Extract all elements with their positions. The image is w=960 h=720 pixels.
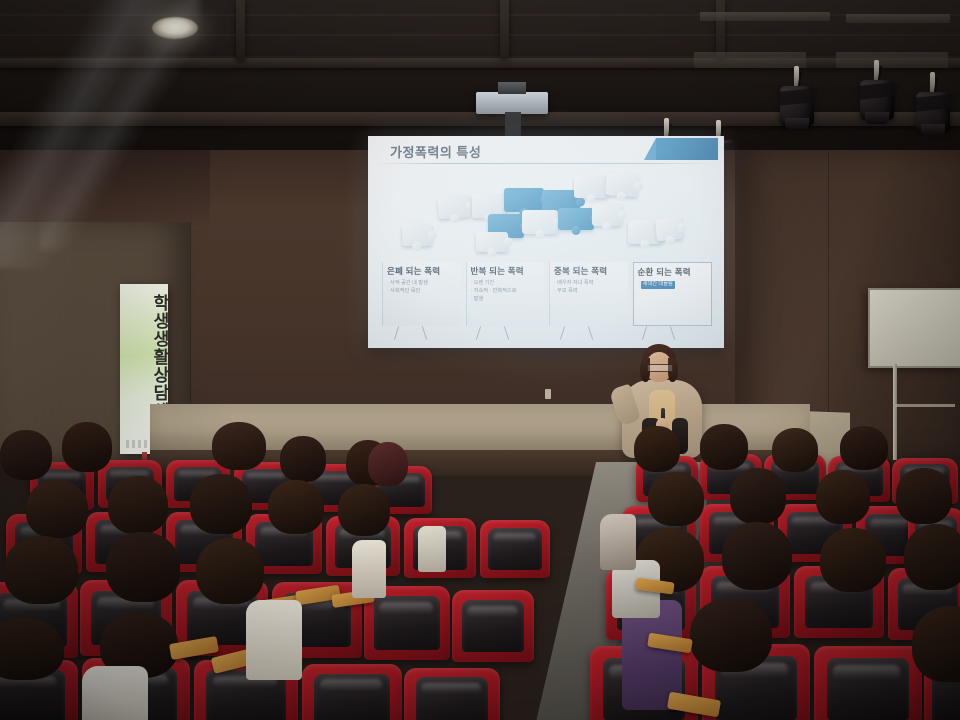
- glasses-icon: [647, 364, 673, 372]
- audience-member: [648, 472, 706, 528]
- audience-member: [280, 436, 330, 486]
- audience-clothing: [246, 600, 302, 680]
- characteristic-box-1[interactable]: 은폐 되는 폭력 사적 공간 내 발생 사회적인 묵인: [382, 262, 461, 326]
- projection-screen: 가정폭력의 특성 은: [368, 136, 724, 348]
- bullet-item: 부모 폭력: [554, 288, 625, 296]
- slide-corner-accent: [656, 138, 718, 160]
- ceiling: [0, 0, 960, 150]
- audience-member: [368, 442, 412, 488]
- characteristic-bullets: 배우자 자녀 폭력 부모 폭력: [554, 280, 625, 296]
- audience-member: [690, 598, 774, 674]
- seat[interactable]: [452, 590, 534, 662]
- audience-member: [0, 618, 66, 684]
- jigsaw-puzzle-graphic: [392, 168, 692, 264]
- audience-member: [840, 426, 890, 472]
- audience-member: [26, 480, 90, 542]
- audience-member: [106, 532, 182, 606]
- characteristic-heading: 은폐 되는 폭력: [387, 265, 458, 277]
- audience-member: [268, 480, 326, 538]
- characteristic-box-4[interactable]: 순환 되는 폭력 세대간 대물림: [633, 262, 713, 326]
- characteristic-heading: 반복 되는 폭력: [471, 265, 542, 277]
- audience-seating: [0, 440, 960, 720]
- wall-outlet: [545, 389, 551, 399]
- audience-member: [4, 536, 80, 608]
- ceiling-downlight: [152, 17, 198, 39]
- audience-member: [820, 528, 888, 594]
- highlighted-bullet-text: 세대간 대물림: [641, 281, 675, 289]
- whiteboard-tray: [893, 404, 955, 407]
- presentation-slide: 가정폭력의 특성 은: [368, 136, 724, 348]
- audience-clothing: [418, 526, 446, 572]
- seat[interactable]: [302, 664, 402, 720]
- audience-member: [634, 426, 682, 474]
- bullet-item: 배우자 자녀 폭력: [554, 280, 625, 288]
- seat[interactable]: [480, 520, 550, 578]
- characteristic-box-3[interactable]: 중복 되는 폭력 배우자 자녀 폭력 부모 폭력: [549, 262, 628, 326]
- bullet-item-highlighted: 세대간 대물림: [638, 281, 709, 289]
- characteristic-heading: 중복 되는 폭력: [554, 265, 625, 277]
- seat[interactable]: [814, 646, 922, 720]
- audience-member: [338, 484, 392, 540]
- characteristic-bullets: 오랜 기간 지속적 · 반복적으로 발생: [471, 280, 542, 303]
- bullet-item: 사적 공간 내 발생: [387, 280, 458, 288]
- auditorium-scene: 가정폭력의 특성 은: [0, 0, 960, 720]
- audience-member: [904, 524, 960, 592]
- bullet-item: 발생: [471, 296, 542, 304]
- audience-member: [730, 468, 788, 526]
- ceiling-projector: [476, 92, 548, 114]
- characteristic-bullets: 세대간 대물림: [638, 281, 709, 289]
- slide-title: 가정폭력의 특성: [390, 142, 481, 161]
- audience-member: [0, 430, 60, 486]
- characteristic-bullets: 사적 공간 내 발생 사회적인 묵인: [387, 280, 458, 296]
- whiteboard: [868, 288, 960, 368]
- seat[interactable]: [404, 668, 500, 720]
- audience-member: [212, 422, 268, 478]
- audience-member: [722, 522, 794, 592]
- audience-member: [62, 422, 118, 478]
- audience-clothing: [600, 514, 636, 570]
- audience-member: [190, 474, 254, 538]
- audience-clothing: [352, 540, 386, 598]
- bullet-item: 지속적 · 반복적으로: [471, 288, 542, 296]
- audience-member: [816, 470, 872, 526]
- audience-clothing: [82, 666, 148, 720]
- audience-member: [108, 476, 170, 538]
- audience-member: [196, 538, 266, 608]
- bullet-item: 오랜 기간: [471, 280, 542, 288]
- audience-member: [912, 606, 960, 684]
- characteristic-heading: 순환 되는 폭력: [638, 266, 709, 278]
- bullet-item: 사회적인 묵인: [387, 288, 458, 296]
- audience-member: [896, 468, 954, 526]
- left-wall-upper: [0, 150, 210, 230]
- slide-title-rule: [376, 163, 716, 164]
- box-connector-ticks: [382, 326, 712, 342]
- characteristics-row: 은폐 되는 폭력 사적 공간 내 발생 사회적인 묵인 반복 되는 폭력 오랜 …: [382, 262, 712, 326]
- projector-mount: [498, 82, 526, 94]
- characteristic-box-2[interactable]: 반복 되는 폭력 오랜 기간 지속적 · 반복적으로 발생: [466, 262, 545, 326]
- audience-member: [700, 424, 750, 472]
